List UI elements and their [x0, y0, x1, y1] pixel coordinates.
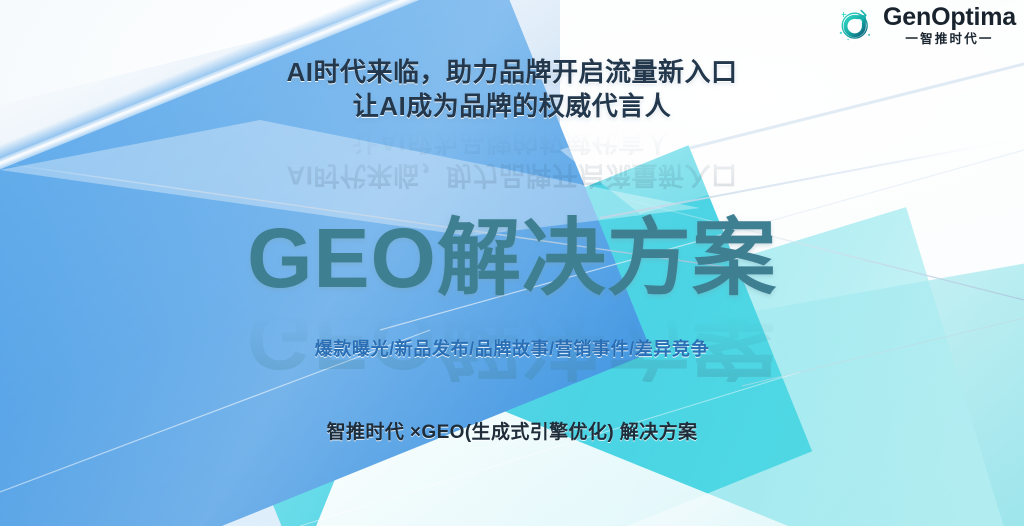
brand-name: GenOptima [883, 5, 1016, 30]
headline-reflection-line-2: 让AI成为品牌的权威代言人 [0, 124, 1024, 158]
brand-logo-text: GenOptima 一智推时代一 [883, 5, 1016, 46]
brand-logo[interactable]: GenOptima 一智推时代一 [835, 4, 1016, 46]
headline-line-1: AI时代来临，助力品牌开启流量新入口 [0, 55, 1024, 89]
brand-slogan: 一智推时代一 [905, 33, 993, 46]
headline-reflection: AI时代来临，助力品牌开启流量新入口 让AI成为品牌的权威代言人 [0, 124, 1024, 193]
headline-reflection-line-1: AI时代来临，助力品牌开启流量新入口 [0, 158, 1024, 192]
presentation-slide: GenOptima 一智推时代一 AI时代来临，助力品牌开启流量新入口 让AI成… [0, 0, 1024, 526]
slide-content: AI时代来临，助力品牌开启流量新入口 让AI成为品牌的权威代言人 AI时代来临，… [0, 0, 1024, 526]
geo-globe-g-icon [835, 4, 877, 46]
footnote: 智推时代 ×GEO(生成式引擎优化) 解决方案 [0, 417, 1024, 444]
page-title: GEO解决方案 [0, 216, 1024, 300]
headline: AI时代来临，助力品牌开启流量新入口 让AI成为品牌的权威代言人 [0, 55, 1024, 124]
tagline: 爆款曝光/新品发布/品牌故事/营销事件/差异竞争 [0, 335, 1024, 361]
headline-line-2: 让AI成为品牌的权威代言人 [0, 89, 1024, 123]
